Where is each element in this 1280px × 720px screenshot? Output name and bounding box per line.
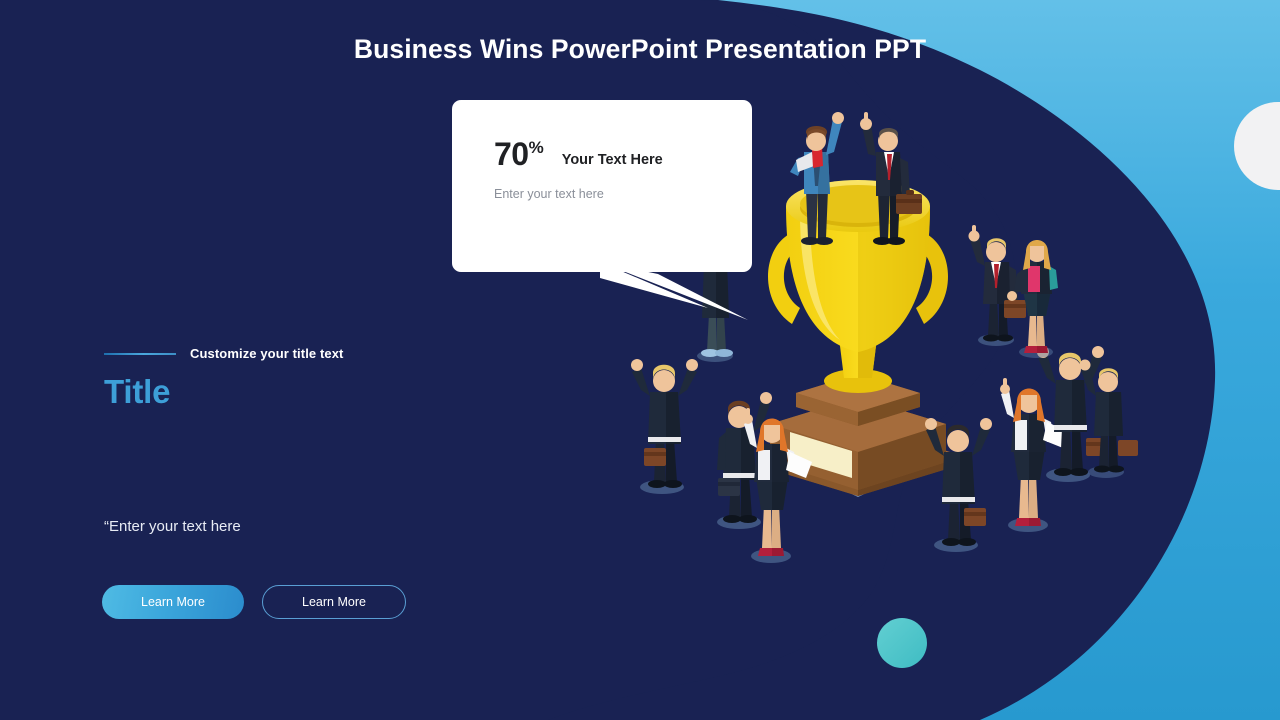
quote-text: “Enter your text here <box>104 518 241 535</box>
stat-value: 70 <box>494 138 529 170</box>
figure-crowd-10 <box>1080 360 1139 479</box>
divider-line <box>104 353 176 355</box>
figure-crowd-1 <box>631 359 698 494</box>
page-title: Business Wins PowerPoint Presentation PP… <box>0 34 1280 65</box>
stat-label: Your Text Here <box>562 152 663 168</box>
callout-subtext: Enter your text here <box>494 187 752 201</box>
kicker-row: Customize your title text <box>104 346 524 361</box>
presentation-slide: Business Wins PowerPoint Presentation PP… <box>0 0 1280 720</box>
left-text-column: Customize your title text Title <box>104 346 524 411</box>
figure-crowd-4 <box>925 418 992 552</box>
stat-row: 70 % Your Text Here <box>494 138 752 170</box>
learn-more-button-primary[interactable]: Learn More <box>102 585 244 619</box>
stat-callout-card[interactable]: 70 % Your Text Here Enter your text here <box>452 100 752 272</box>
figure-crowd-8 <box>1007 240 1058 358</box>
stat-unit: % <box>529 138 544 158</box>
button-row: Learn More Learn More <box>102 585 406 619</box>
kicker-label: Customize your title text <box>190 346 343 361</box>
learn-more-button-secondary[interactable]: Learn More <box>262 585 406 619</box>
main-heading: Title <box>104 373 524 411</box>
